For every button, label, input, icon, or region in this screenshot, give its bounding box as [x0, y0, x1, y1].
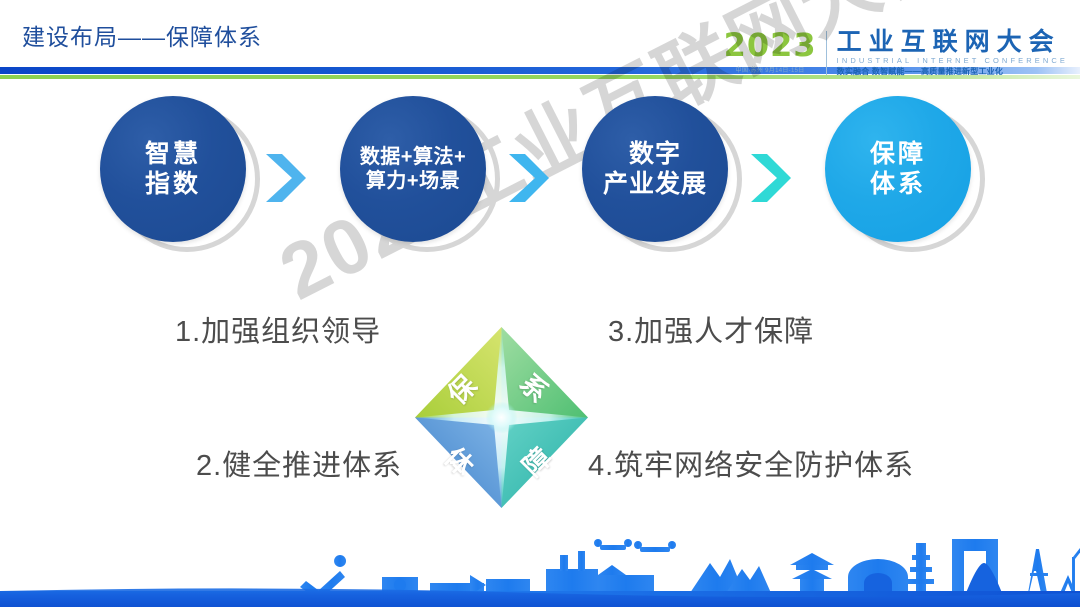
- flow-node-3-line-1: 数字: [629, 139, 681, 170]
- flow-node-3-line-2: 产业发展: [603, 169, 707, 200]
- footer-skyline: [0, 517, 1080, 607]
- logo-slogan: 数实融合 数智赋能——高质量推进新型工业化: [837, 66, 1068, 77]
- flow-node-2-line-1: 数据+算法+: [360, 145, 466, 169]
- measure-item-2: 2.健全推进体系: [196, 442, 402, 484]
- conference-logo: 2023 中国·苏州 9月14日-15日 工业互联网大会 INDUSTRIAL …: [724, 29, 1068, 77]
- logo-year: 2023: [724, 29, 817, 61]
- flow-node-2-line-2: 算力+场景: [366, 169, 460, 193]
- skyline-silhouette-right: [688, 563, 691, 593]
- measure-item-1: 1.加强组织领导: [175, 308, 381, 350]
- flow-node-1-disc: 智慧 指数: [100, 96, 246, 242]
- logo-name-block: 工业互联网大会 INDUSTRIAL INTERNET CONFERENCE 数…: [827, 29, 1068, 77]
- flow-diagram: 智慧 指数 数据+算法+ 算力+场景 数字 产业发展: [0, 96, 1080, 256]
- logo-name-cn: 工业互联网大会: [837, 29, 1068, 56]
- chevron-arrow-3-icon: [747, 152, 793, 204]
- slide-canvas: 建设布局——保障体系 2023 中国·苏州 9月14日-15日 工业互联网大会 …: [0, 0, 1080, 607]
- chevron-arrow-2-icon: [505, 152, 551, 204]
- chevron-arrow-1-icon: [262, 152, 308, 204]
- flow-node-3-disc: 数字 产业发展: [582, 96, 728, 242]
- flow-node-1-line-1: 智慧: [145, 139, 201, 170]
- logo-place-date: 中国·苏州 9月14日-15日: [736, 65, 805, 74]
- flow-node-4-disc: 保障 体系: [825, 96, 971, 242]
- flow-node-2-disc: 数据+算法+ 算力+场景: [340, 96, 486, 242]
- flow-node-1-line-2: 指数: [145, 169, 201, 200]
- flow-node-4-line-1: 保障: [870, 139, 926, 170]
- diamond-graphic: 保 系 体 障: [409, 325, 594, 510]
- measure-item-3: 3.加强人才保障: [608, 308, 814, 350]
- logo-name-en: INDUSTRIAL INTERNET CONFERENCE: [837, 56, 1068, 66]
- flow-node-4-line-2: 体系: [870, 169, 926, 200]
- flow-node-4[interactable]: 保障 体系: [825, 96, 985, 256]
- flow-node-2[interactable]: 数据+算法+ 算力+场景: [340, 96, 500, 256]
- flow-node-3[interactable]: 数字 产业发展: [582, 96, 742, 256]
- flow-node-1[interactable]: 智慧 指数: [100, 96, 260, 256]
- logo-year-block: 2023 中国·苏州 9月14日-15日: [724, 29, 826, 74]
- measure-item-4: 4.筑牢网络安全防护体系: [588, 442, 914, 484]
- page-title: 建设布局——保障体系: [22, 18, 262, 52]
